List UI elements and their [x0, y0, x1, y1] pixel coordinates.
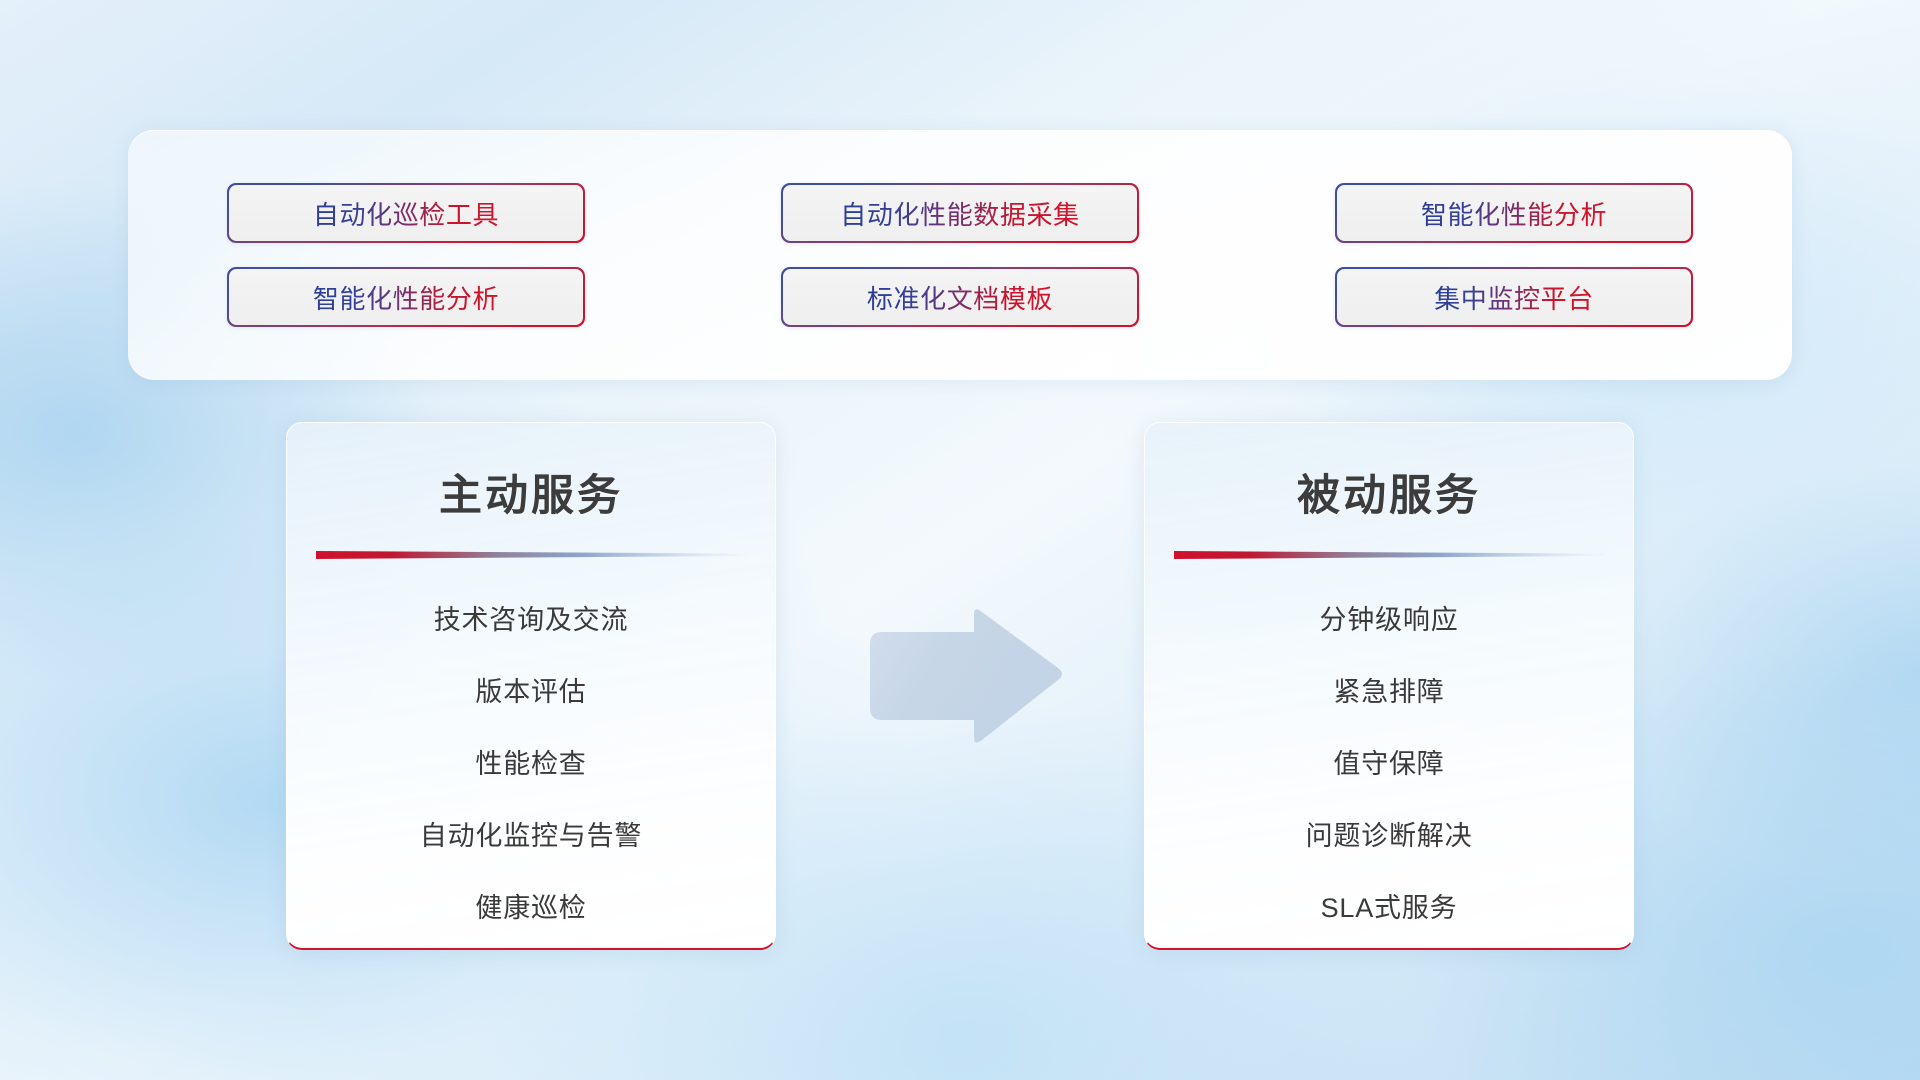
capability-tag-1-inner: 自动化巡检工具	[229, 185, 584, 242]
capability-tag-1-label: 自动化巡检工具	[313, 195, 499, 232]
reactive-service-list: 分钟级响应 紧急排障 值守保障 问题诊断解决 SLA式服务	[1145, 593, 1633, 936]
capability-tag-5-inner: 标准化文档模板	[783, 269, 1138, 326]
diagram-canvas: 自动化巡检工具 自动化性能数据采集 智能化性能分析 智能化性能分析	[0, 0, 1920, 1080]
reactive-list-item: 问题诊断解决	[1145, 809, 1633, 864]
capability-tag-4-inner: 智能化性能分析	[229, 269, 584, 326]
capability-tag-4-label: 智能化性能分析	[313, 279, 499, 316]
proactive-list-item: 版本评估	[287, 665, 775, 720]
reactive-list-item: 紧急排障	[1145, 665, 1633, 720]
capability-tag-6-inner: 集中监控平台	[1337, 269, 1692, 326]
proactive-list-item: 健康巡检	[287, 881, 775, 936]
reactive-list-item: 值守保障	[1145, 737, 1633, 792]
capability-tag-4[interactable]: 智能化性能分析	[227, 267, 585, 327]
capability-tag-3-label: 智能化性能分析	[1421, 195, 1607, 232]
capability-tags-panel: 自动化巡检工具 自动化性能数据采集 智能化性能分析 智能化性能分析	[128, 130, 1792, 380]
capability-tag-6[interactable]: 集中监控平台	[1335, 267, 1693, 327]
capability-tag-3[interactable]: 智能化性能分析	[1335, 183, 1693, 243]
reactive-list-item: SLA式服务	[1145, 881, 1633, 936]
reactive-list-item: 分钟级响应	[1145, 593, 1633, 648]
reactive-card-title: 被动服务	[1145, 423, 1633, 523]
capability-tag-5-label: 标准化文档模板	[867, 279, 1053, 316]
proactive-service-list: 技术咨询及交流 版本评估 性能检查 自动化监控与告警 健康巡检	[287, 593, 775, 936]
proactive-card-title: 主动服务	[287, 423, 775, 523]
service-card-reactive: 被动服务 分钟级响应 紧急排障 值守保障	[1144, 422, 1634, 950]
arrow-right-icon	[866, 608, 1066, 746]
capability-tag-2[interactable]: 自动化性能数据采集	[781, 183, 1139, 243]
proactive-list-item: 性能检查	[287, 737, 775, 792]
capability-tags-grid: 自动化巡检工具 自动化性能数据采集 智能化性能分析 智能化性能分析	[227, 183, 1693, 327]
capability-tag-1[interactable]: 自动化巡检工具	[227, 183, 585, 243]
proactive-list-item: 技术咨询及交流	[287, 593, 775, 648]
capability-tag-5[interactable]: 标准化文档模板	[781, 267, 1139, 327]
capability-tag-2-inner: 自动化性能数据采集	[783, 185, 1138, 242]
service-card-proactive: 主动服务 技术咨询及交流 版本评估 性能检查	[286, 422, 776, 950]
capability-tag-3-inner: 智能化性能分析	[1337, 185, 1692, 242]
reactive-card-divider	[1174, 549, 1604, 561]
proactive-list-item: 自动化监控与告警	[287, 809, 775, 864]
capability-tag-2-label: 自动化性能数据采集	[840, 195, 1079, 232]
capability-tag-6-label: 集中监控平台	[1434, 279, 1594, 316]
proactive-card-divider	[316, 549, 746, 561]
